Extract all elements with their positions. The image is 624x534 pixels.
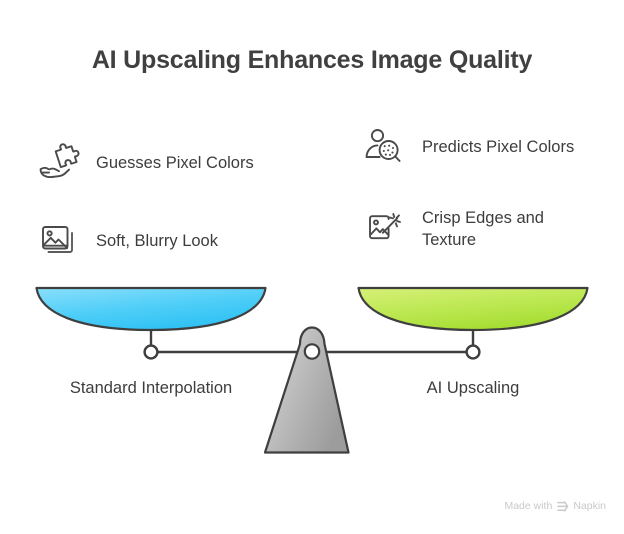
watermark-brand: Napkin — [573, 500, 606, 512]
pan-label-standard-interpolation: Standard Interpolation — [36, 379, 266, 398]
watermark: Made with Napkin — [504, 500, 606, 512]
scale-joint-left — [145, 346, 158, 359]
scale-pan-right — [359, 288, 588, 330]
scale-pan-left — [37, 288, 266, 330]
pan-label-ai-upscaling: AI Upscaling — [358, 379, 588, 398]
balance-scale-graphic — [0, 0, 624, 534]
napkin-logo-icon — [556, 501, 569, 512]
scale-joint-right — [467, 346, 480, 359]
watermark-prefix: Made with — [504, 500, 552, 512]
fulcrum-pivot-hole — [305, 344, 319, 358]
infographic-canvas: AI Upscaling Enhances Image Quality Gues… — [0, 0, 624, 534]
